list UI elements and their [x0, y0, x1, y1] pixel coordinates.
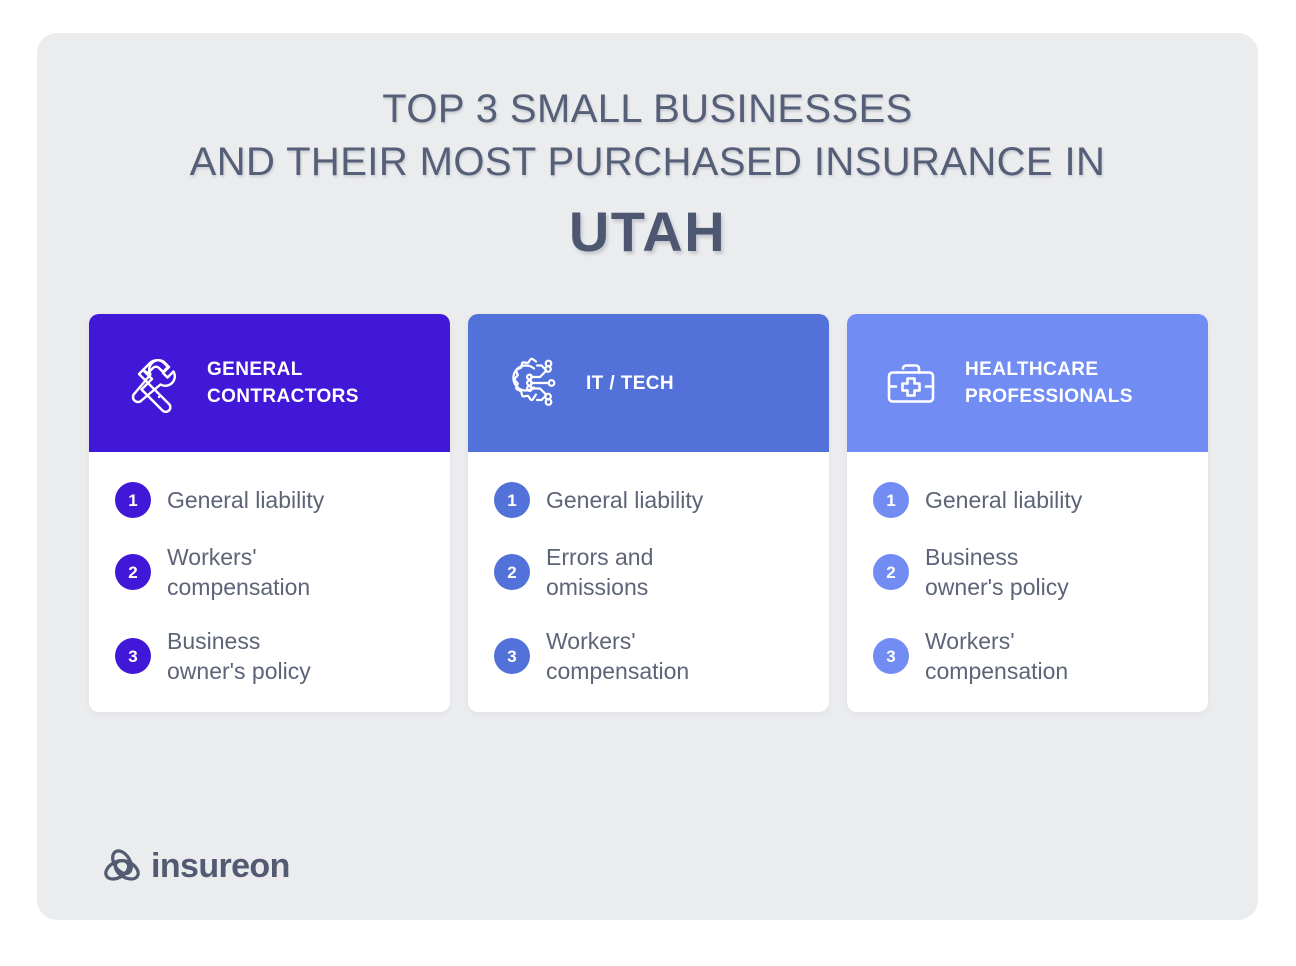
card-general-contractors[interactable]: GENERAL CONTRACTORS 1 General liability …: [89, 314, 450, 712]
card-title: HEALTHCARE PROFESSIONALS: [965, 356, 1133, 410]
list-item-label: Workers' compensation: [167, 542, 310, 602]
list-item-label: General liability: [546, 485, 703, 515]
list-item-label: Business owner's policy: [167, 626, 311, 686]
hammer-wrench-icon: [117, 350, 189, 416]
list-item: 3 Workers' compensation: [494, 626, 803, 686]
card-header: HEALTHCARE PROFESSIONALS: [847, 314, 1208, 452]
list-item: 2 Workers' compensation: [115, 542, 424, 602]
insureon-trefoil-icon: [102, 846, 142, 886]
brand-logo: insureon: [102, 846, 290, 886]
card-title: IT / TECH: [586, 370, 674, 397]
list-item-label: General liability: [167, 485, 324, 515]
title-line-1: TOP 3 SMALL BUSINESSES: [37, 83, 1258, 136]
list-item: 1 General liability: [115, 482, 424, 518]
medical-bag-icon: [875, 350, 947, 416]
list-item-label: Errors and omissions: [546, 542, 653, 602]
rank-badge: 3: [873, 638, 909, 674]
rank-badge: 1: [873, 482, 909, 518]
rank-badge: 3: [494, 638, 530, 674]
list-item-label: Workers' compensation: [546, 626, 689, 686]
card-header: IT / TECH: [468, 314, 829, 452]
card-item-list: 1 General liability 2 Workers' compensat…: [89, 452, 450, 712]
title-state: UTAH: [37, 201, 1258, 263]
rank-badge: 1: [115, 482, 151, 518]
business-card-row: GENERAL CONTRACTORS 1 General liability …: [89, 314, 1208, 712]
list-item-label: Business owner's policy: [925, 542, 1069, 602]
card-healthcare-professionals[interactable]: HEALTHCARE PROFESSIONALS 1 General liabi…: [847, 314, 1208, 712]
card-title: GENERAL CONTRACTORS: [207, 356, 359, 410]
list-item: 2 Business owner's policy: [873, 542, 1182, 602]
rank-badge: 2: [873, 554, 909, 590]
list-item: 3 Workers' compensation: [873, 626, 1182, 686]
title-line-2: AND THEIR MOST PURCHASED INSURANCE IN: [37, 136, 1258, 189]
list-item-label: General liability: [925, 485, 1082, 515]
list-item: 2 Errors and omissions: [494, 542, 803, 602]
content-panel: TOP 3 SMALL BUSINESSES AND THEIR MOST PU…: [37, 33, 1258, 920]
rank-badge: 1: [494, 482, 530, 518]
gear-circuit-icon: [496, 350, 568, 416]
logo-wordmark: insureon: [151, 846, 290, 886]
rank-badge: 2: [494, 554, 530, 590]
list-item: 1 General liability: [873, 482, 1182, 518]
list-item: 3 Business owner's policy: [115, 626, 424, 686]
card-item-list: 1 General liability 2 Errors and omissio…: [468, 452, 829, 712]
card-item-list: 1 General liability 2 Business owner's p…: [847, 452, 1208, 712]
list-item-label: Workers' compensation: [925, 626, 1068, 686]
page-title: TOP 3 SMALL BUSINESSES AND THEIR MOST PU…: [37, 83, 1258, 263]
rank-badge: 3: [115, 638, 151, 674]
infographic-canvas: TOP 3 SMALL BUSINESSES AND THEIR MOST PU…: [0, 0, 1296, 966]
card-it-tech[interactable]: IT / TECH 1 General liability 2 Errors a…: [468, 314, 829, 712]
card-header: GENERAL CONTRACTORS: [89, 314, 450, 452]
list-item: 1 General liability: [494, 482, 803, 518]
rank-badge: 2: [115, 554, 151, 590]
